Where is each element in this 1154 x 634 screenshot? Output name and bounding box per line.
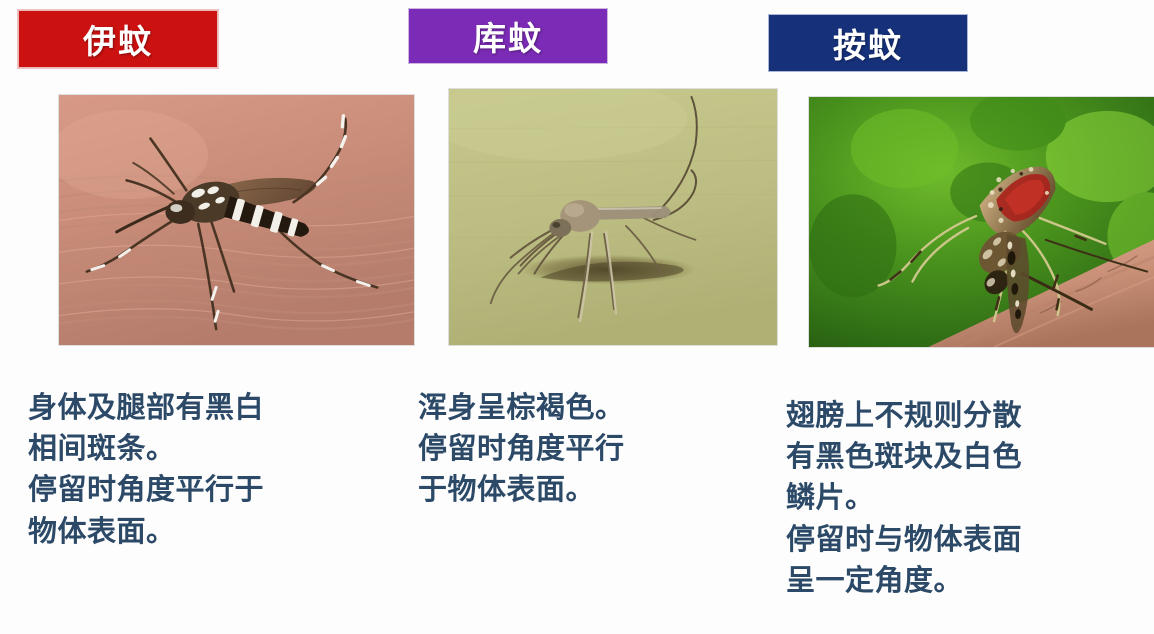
photo-anopheles <box>808 96 1154 348</box>
panel-culex: 库蚊 <box>400 0 758 634</box>
header-chip-culex: 库蚊 <box>408 8 608 64</box>
photo-culex <box>448 88 778 346</box>
panel-aedes: 伊蚊 <box>0 0 400 634</box>
header-chip-aedes: 伊蚊 <box>18 10 218 68</box>
header-chip-anopheles: 按蚊 <box>768 14 968 72</box>
description-aedes: 身体及腿部有黑白 相间斑条。 停留时角度平行于 物体表面。 <box>28 387 368 552</box>
mosquito-comparison-board: 伊蚊 <box>0 0 1154 634</box>
photo-aedes <box>58 94 415 346</box>
panel-anopheles: 按蚊 <box>758 0 1154 634</box>
description-culex: 浑身呈棕褐色。 停留时角度平行 于物体表面。 <box>418 387 738 511</box>
description-anopheles: 翅膀上不规则分散 有黑色斑块及白色 鳞片。 停留时与物体表面 呈一定角度。 <box>786 395 1146 601</box>
